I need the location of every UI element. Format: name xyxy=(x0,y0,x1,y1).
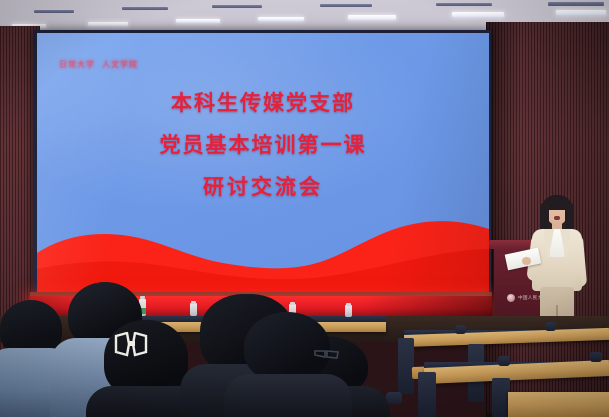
desk-knob xyxy=(498,356,510,366)
speaker-mouth xyxy=(554,216,560,220)
recessed-linear-light xyxy=(88,22,128,26)
recessed-linear-light xyxy=(436,3,492,6)
university-seal-icon xyxy=(507,294,515,302)
recessed-linear-light xyxy=(212,5,262,8)
recessed-linear-light xyxy=(258,17,304,21)
recessed-linear-light xyxy=(34,10,74,13)
screen-sheen xyxy=(37,33,489,295)
hair-bow-clip-icon xyxy=(114,332,148,358)
recessed-linear-light xyxy=(320,4,372,7)
projection-screen: 日常大学 人文学院 本科生传媒党支部 党员基本培训第一课 研讨交流会 xyxy=(37,33,489,295)
water-bottle-cap xyxy=(346,303,351,306)
recessed-linear-light xyxy=(556,10,606,15)
desk-right-row-3 xyxy=(508,392,609,417)
recessed-linear-light xyxy=(122,7,168,10)
recessed-linear-light xyxy=(452,12,504,17)
speaker-hand xyxy=(522,257,531,265)
audience-head xyxy=(244,312,330,382)
audience-member xyxy=(228,312,340,417)
recessed-linear-light xyxy=(176,19,220,23)
lecture-hall-photo: 日常大学 人文学院 本科生传媒党支部 党员基本培训第一课 研讨交流会 中国人民大… xyxy=(0,0,609,417)
audience-shoulders xyxy=(224,374,352,417)
desk-knob xyxy=(590,352,602,362)
chair-right-3 xyxy=(418,372,436,417)
recessed-linear-light xyxy=(548,2,604,6)
chair-right-1 xyxy=(398,338,414,394)
water-bottle xyxy=(345,305,352,317)
eyeglasses-icon xyxy=(314,348,340,360)
desk-knob xyxy=(455,325,466,334)
recessed-linear-light xyxy=(348,15,396,20)
desk-knob xyxy=(545,322,556,331)
